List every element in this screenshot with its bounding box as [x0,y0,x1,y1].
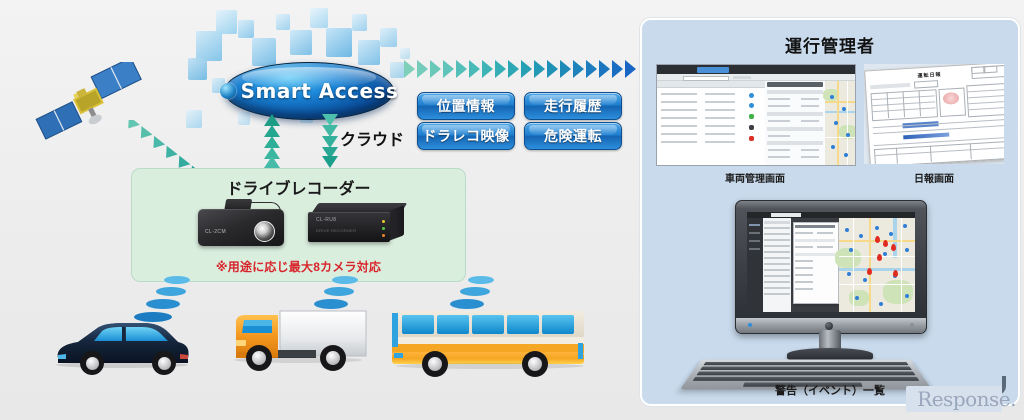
recorder-led-orange [382,234,385,237]
drive-recorder-title: ドライブレコーダー [132,175,465,199]
monitor-screen[interactable] [747,212,915,312]
vms-titlebar [657,65,855,74]
operations-manager-title: 運行管理者 [642,32,1018,57]
recorder-unit-model-label: CL-RU8 [316,217,336,223]
bus-icon [390,305,590,377]
monitor-map[interactable] [839,218,915,312]
monitor-map-event-pin[interactable] [877,254,882,261]
feature-button-dangerous-driving-label: 危険運転 [544,126,602,146]
upload-arrows [262,114,282,168]
event-alert-list-monitor [735,200,925,350]
monitor-bezel [735,200,927,334]
monitor-logo [825,322,833,330]
download-arrows [320,114,340,168]
sedan-icon [52,318,192,378]
vehicle-management-screen[interactable] [656,64,856,166]
feature-button-drive-history[interactable]: 走行履歴 [524,92,622,120]
recorder-unit-side [389,205,404,240]
dashcam-model-label: CL-2CM [205,229,226,235]
globe-icon [220,83,236,99]
recorder-unit-front: CL-RU8 DRIVE RECORDER [308,212,390,242]
dashcam-icon: CL-2CM [198,199,284,246]
cloud-label-text: クラウド [340,132,404,149]
vms-status-blue-2 [749,103,754,108]
feature-button-recorder-video-label: ドラレコ映像 [423,126,510,146]
smart-access-logo: Smart Access [224,62,394,120]
daily-report-doc-title: 運転日報 [917,71,941,79]
vms-detail-panel [765,81,826,165]
monitor-map-event-pin[interactable] [875,236,880,243]
drive-recorder-note: ※用途に応じ最大8カメラ対応 [132,258,465,275]
feature-button-dangerous-driving[interactable]: 危険運転 [524,122,622,150]
response-watermark: Response. [904,384,1016,414]
monitor-map-event-pin[interactable] [891,244,896,251]
truck-wheel-rear [320,345,346,371]
vms-toolbar-btn[interactable] [733,76,751,80]
bus-wheel-rear [522,351,548,377]
vms-status-blue [749,93,754,98]
dashcam-lens-icon [254,221,275,242]
sedan-wheel-front [80,351,104,375]
recorder-unit-icon: CL-RU8 DRIVE RECORDER [308,203,404,245]
feature-button-recorder-video[interactable]: ドラレコ映像 [417,122,515,150]
vms-status-green [749,114,754,119]
dashcam-body: CL-2CM [198,209,284,246]
data-flow-arrows [404,58,642,82]
truck-wheel-front [246,345,272,371]
operations-manager-panel: 運行管理者 [640,18,1020,406]
drive-recorder-panel: ドライブレコーダー CL-2CM CL-RU8 DRIVE RECORDER ※… [131,168,466,282]
recorder-unit-sub-label: DRIVE RECORDER [316,228,356,233]
recorder-led-yellow [382,220,385,223]
feature-button-location[interactable]: 位置情報 [417,92,515,120]
monitor-power-led [748,323,752,327]
daily-report-document: 運転日報 [864,64,1004,164]
sedan-wheel-rear [152,351,176,375]
feature-button-drive-history-label: 走行履歴 [544,96,602,116]
response-watermark-text: Response. [917,387,1016,411]
vms-logo [697,67,729,73]
smart-access-label: Smart Access [241,79,399,103]
monitor-buttons[interactable] [910,323,914,327]
monitor-map-event-pin[interactable] [883,240,888,247]
cloud-label: クラウド [340,126,404,150]
vehicle-management-screen-caption: 車両管理画面 [656,170,854,185]
monitor-map-event-pin[interactable] [893,270,898,277]
vms-status-dark [749,125,754,130]
bus-wheel-front [422,351,448,377]
feature-button-location-label: 位置情報 [437,96,495,116]
recorder-led-green [382,227,385,230]
truck-icon [228,300,368,378]
vms-status-red [749,136,754,141]
daily-report-screen-caption: 日報画面 [864,170,1004,185]
vms-vehicle-list[interactable] [657,81,766,165]
vms-map[interactable] [825,81,855,165]
signal-waves-sedan [130,276,190,324]
monitor-map-event-pin[interactable] [867,268,872,275]
daily-report-chart-line [903,133,949,140]
daily-report-screen[interactable]: 運転日報 [864,64,1004,164]
diagram-canvas: Smart Access [0,0,1024,420]
